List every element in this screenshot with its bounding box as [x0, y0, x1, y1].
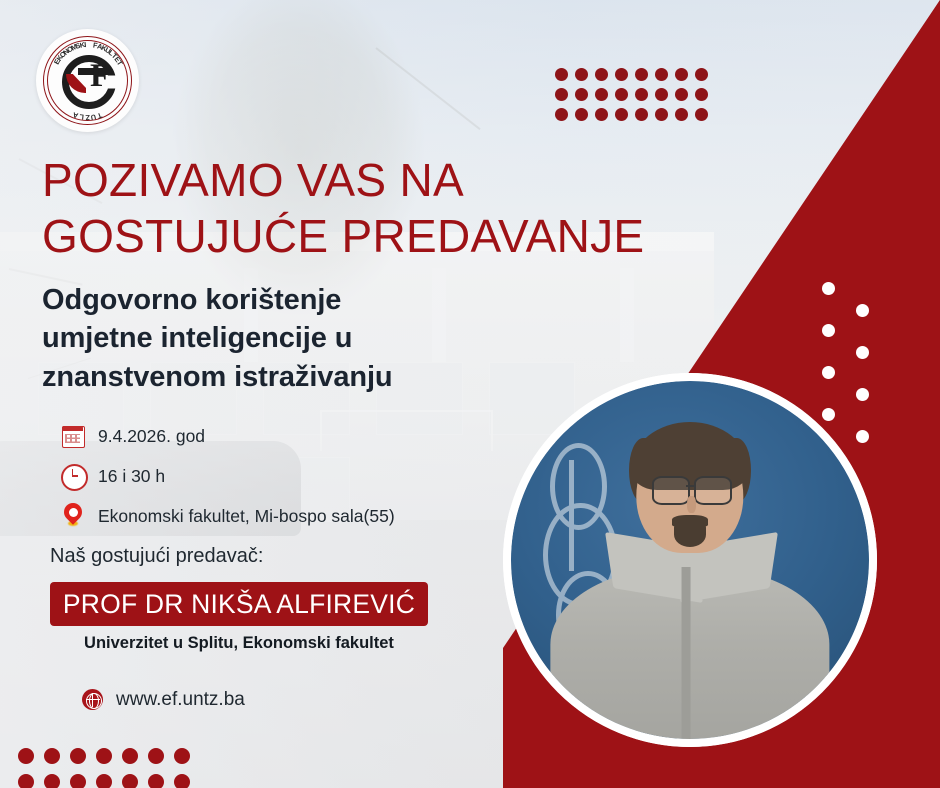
detail-time: 16 i 30 h [58, 458, 395, 494]
website-url[interactable]: www.ef.untz.ba [116, 689, 245, 711]
title-line-2: GOSTUJUĆE PREDAVANJE [42, 208, 682, 264]
portrait-ring [503, 373, 877, 747]
location-pin-icon [58, 501, 88, 531]
title-line-1: POZIVAMO VAS NA [42, 152, 682, 208]
event-details: 9.4.2026. god 16 i 30 h Ekonomski fakult… [58, 418, 395, 538]
poster-title: POZIVAMO VAS NA GOSTUJUĆE PREDAVANJE [42, 152, 682, 264]
subtitle-line-3: znanstvenom istraživanju [42, 358, 512, 396]
calendar-icon [58, 421, 88, 451]
lecture-topic: Odgovorno korištenje umjetne inteligenci… [42, 281, 512, 396]
speaker-portrait [503, 373, 877, 747]
detail-location: Ekonomski fakultet, Mi-bospo sala(55) [58, 498, 395, 534]
website-row[interactable]: www.ef.untz.ba [80, 687, 245, 712]
globe-icon [80, 687, 105, 712]
speaker-label: Naš gostujući predavač: [50, 545, 263, 568]
detail-date: 9.4.2026. god [58, 418, 395, 454]
detail-location-text: Ekonomski fakultet, Mi-bospo sala(55) [98, 506, 395, 527]
speaker-affiliation: Univerzitet u Splitu, Ekonomski fakultet [50, 634, 428, 653]
clock-icon [58, 461, 88, 491]
detail-time-text: 16 i 30 h [98, 466, 165, 487]
event-poster: EKONOMSKI FAKULTETTUZLA F POZIVAMO VAS N… [0, 0, 940, 788]
subtitle-line-2: umjetne inteligencije u [42, 319, 512, 357]
speaker-name-banner: PROF DR NIKŠA ALFIREVIĆ [50, 582, 428, 626]
detail-date-text: 9.4.2026. god [98, 426, 205, 447]
subtitle-line-1: Odgovorno korištenje [42, 281, 512, 319]
speaker-name: PROF DR NIKŠA ALFIREVIĆ [63, 589, 415, 620]
